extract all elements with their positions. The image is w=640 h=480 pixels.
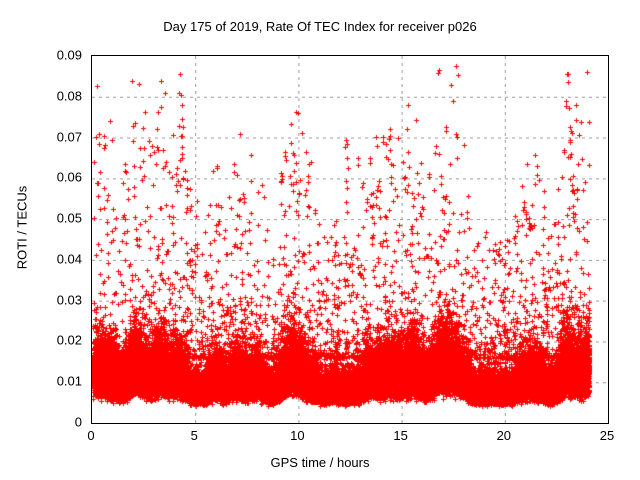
x-tick-label: 20 [474,428,534,443]
y-tick-label: 0.08 [10,88,82,103]
x-tick-label: 25 [577,428,637,443]
y-tick-label: 0.09 [10,48,82,63]
y-tick-label: 0.05 [10,211,82,226]
y-tick-label: 0.01 [10,374,82,389]
y-tick-label: 0.07 [10,129,82,144]
y-tick-label: 0.06 [10,170,82,185]
x-tick-label: 15 [371,428,431,443]
chart-figure: Day 175 of 2019, Rate Of TEC Index for r… [0,0,640,480]
y-tick-label: 0.03 [10,292,82,307]
chart-title: Day 175 of 2019, Rate Of TEC Index for r… [0,19,640,34]
x-tick-label: 0 [61,428,121,443]
y-tick-label: 0.02 [10,333,82,348]
x-tick-label: 10 [267,428,327,443]
x-axis-label: GPS time / hours [0,455,640,470]
x-tick-label: 5 [164,428,224,443]
plot-area [91,55,609,424]
scatter-data-layer [92,56,608,423]
y-tick-label: 0.04 [10,251,82,266]
